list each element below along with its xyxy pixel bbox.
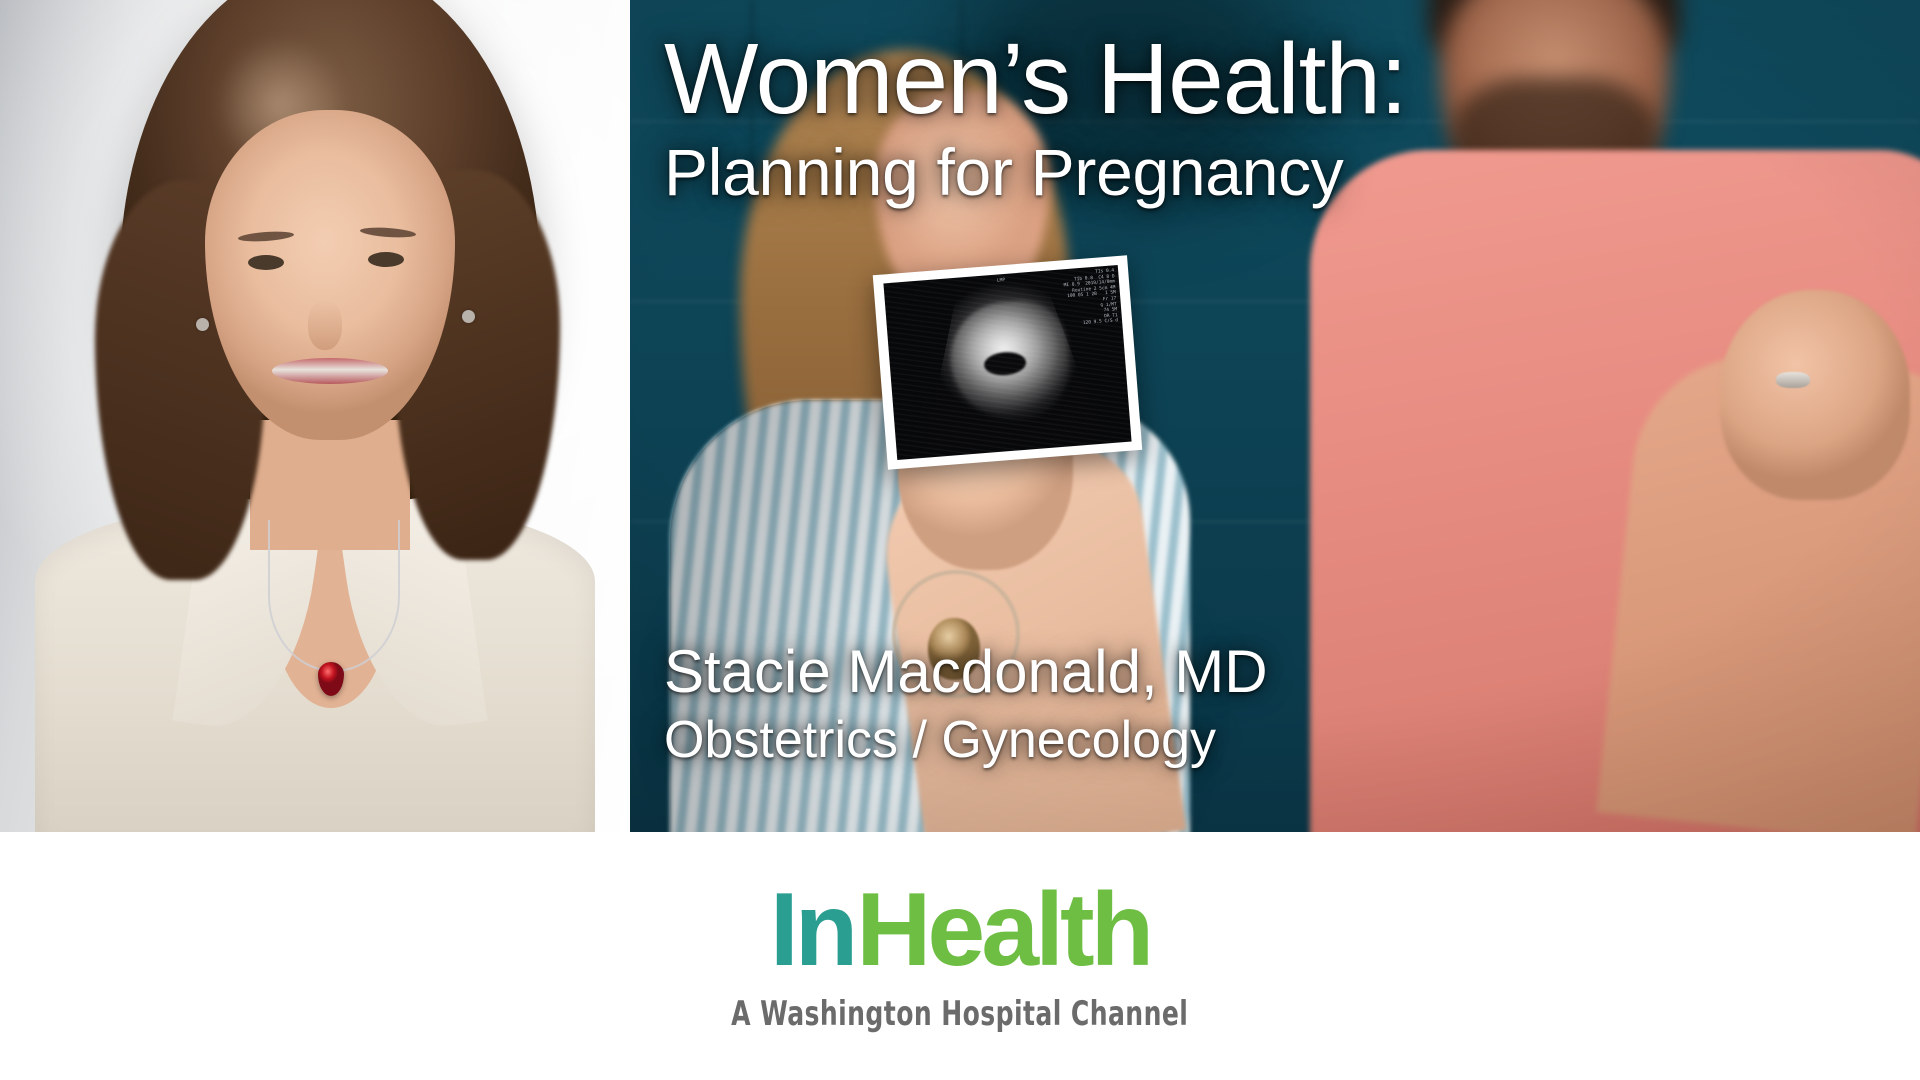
slide-title-block: Women’s Health: Planning for Pregnancy	[664, 28, 1407, 214]
speaker-specialty: Obstetrics / Gynecology	[664, 708, 1268, 772]
presentation-slide: LMP TIs 0.4 TIb 0.8 C4 8 D MI 0.9 2019/1…	[0, 0, 1920, 1080]
inhealth-logo: InHealth	[770, 878, 1150, 982]
media-band: LMP TIs 0.4 TIb 0.8 C4 8 D MI 0.9 2019/1…	[0, 0, 1920, 832]
speaker-portrait-photo	[0, 0, 630, 832]
portrait-necklace-chain	[268, 520, 400, 672]
portrait-eye-right	[368, 252, 404, 267]
footer-branding-bar: InHealth A Washington Hospital Channel	[0, 832, 1920, 1080]
portrait-earring-right	[462, 310, 475, 323]
footer-tagline: A Washington Hospital Channel	[731, 994, 1188, 1034]
page-subtitle: Planning for Pregnancy	[664, 130, 1407, 214]
ultrasound-image: LMP TIs 0.4 TIb 0.8 C4 8 D MI 0.9 2019/1…	[883, 265, 1131, 460]
portrait-mouth	[272, 358, 388, 384]
ultrasound-label: LMP	[997, 278, 1006, 284]
logo-in-text: In	[770, 878, 854, 982]
speaker-name: Stacie Macdonald, MD	[664, 636, 1268, 708]
page-title: Women’s Health:	[664, 28, 1407, 130]
logo-health-text: Health	[856, 878, 1150, 982]
ultrasound-hud-text: TIs 0.4 TIb 0.8 C4 8 D MI 0.9 2019/14/0m…	[1063, 268, 1119, 328]
man-hand	[1720, 290, 1910, 500]
wedding-ring	[1776, 372, 1810, 388]
portrait-nose	[308, 300, 342, 350]
portrait-eye-left	[248, 255, 284, 270]
ultrasound-print: LMP TIs 0.4 TIb 0.8 C4 8 D MI 0.9 2019/1…	[873, 255, 1143, 469]
speaker-block: Stacie Macdonald, MD Obstetrics / Gyneco…	[664, 636, 1268, 772]
portrait-earring-left	[196, 318, 209, 331]
